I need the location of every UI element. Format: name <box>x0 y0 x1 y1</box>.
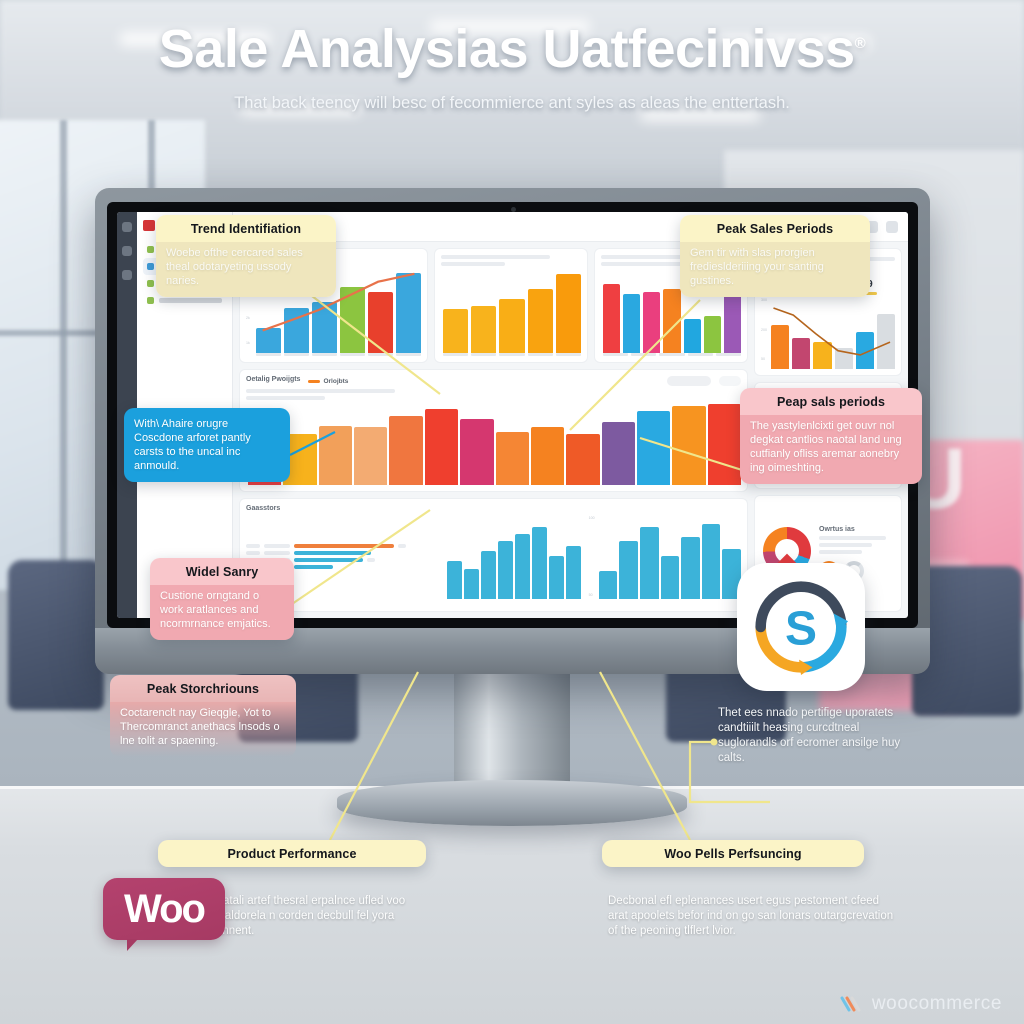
bar <box>684 319 701 352</box>
callout-customer-insights[interactable]: With\ Ahaire orugre Coscdone arforet pan… <box>124 408 290 482</box>
nav-icon <box>147 246 154 253</box>
x-tick <box>340 353 365 356</box>
monitor-stand-neck <box>454 668 570 784</box>
x-tick <box>284 353 309 356</box>
bar <box>661 556 680 599</box>
bar <box>549 556 564 599</box>
callout-body: Woebe ofthe cercared sales theal odotary… <box>156 242 336 297</box>
callout-woo-pells-body: Decbonal efl eplenances usert egus pesto… <box>608 894 898 939</box>
page-subtitle: That back teency will besc of fecommierc… <box>0 94 1024 113</box>
x-axis <box>601 353 741 356</box>
card-title-placeholder <box>441 255 550 259</box>
x-tick <box>256 353 281 356</box>
bar <box>499 299 524 352</box>
card-selling-products[interactable]: Oetalig Pwoijgts Orlojbts <box>239 369 748 492</box>
card-customers[interactable]: Gaasstors <box>239 498 748 612</box>
bar <box>619 541 638 599</box>
bar <box>471 306 496 353</box>
bar <box>481 551 496 599</box>
bar <box>603 284 620 353</box>
bar <box>702 524 721 599</box>
woo-wordmark: Woo <box>124 887 204 932</box>
woocommerce-mark-icon <box>840 996 864 1013</box>
hbar <box>294 558 363 562</box>
callout-woo-pells-perfsuncing[interactable]: Woo Pells Perfsuncing <box>602 840 864 867</box>
bar <box>447 561 462 599</box>
callout-title: Peak Sales Periods <box>680 215 870 242</box>
card-title: Owrtus ias <box>819 526 895 533</box>
footer-wordmark: woocommerce <box>872 993 1002 1015</box>
bar <box>460 419 493 485</box>
x-tick <box>631 353 656 356</box>
x-axis <box>441 353 581 356</box>
bar <box>389 416 422 485</box>
sidebar-item-label <box>159 298 222 303</box>
main-column: Cobrrngt / Taqbs 4k 3k 2k 1k <box>239 248 748 612</box>
callout-title: Trend Identifiation <box>156 215 336 242</box>
bar <box>637 411 670 485</box>
nav-icon <box>147 297 154 304</box>
hbar <box>294 551 371 555</box>
y-axis: 300 200 50 <box>761 298 770 361</box>
registered-trademark-icon: ® <box>855 35 866 52</box>
window-mullion <box>60 120 67 590</box>
card-sub-placeholder <box>246 396 325 400</box>
hbar <box>294 544 394 548</box>
note-monitor-right: Thet ees nnado pertifige uporatets candt… <box>718 706 918 766</box>
cell <box>264 544 290 548</box>
x-tick <box>603 353 628 356</box>
legend-swatch <box>308 380 320 383</box>
bar <box>319 426 352 485</box>
bar <box>354 427 387 484</box>
bar <box>623 294 640 352</box>
bar <box>602 422 635 484</box>
rail-icon-settings[interactable] <box>122 270 132 280</box>
bar <box>498 541 513 599</box>
y-tick: 50 <box>589 593 598 597</box>
selling-products-chart <box>246 403 741 485</box>
y-tick: 1k <box>246 341 255 345</box>
x-tick <box>368 353 393 356</box>
y-tick: 300 <box>761 298 770 302</box>
callout-peap-sals-periods[interactable]: Peap sals periods The yastylenlcixti get… <box>740 388 922 484</box>
callout-title: Woo Pells Perfsuncing <box>602 840 864 867</box>
bar <box>599 571 618 599</box>
x-tick <box>499 353 524 356</box>
legend-label: Orlojbts <box>323 378 348 385</box>
callout-product-performance[interactable]: Product Performance <box>158 840 426 867</box>
x-tick <box>443 353 468 356</box>
y-tick: 50 <box>761 357 770 361</box>
callout-title: Peak Storchriouns <box>110 675 296 702</box>
export-button[interactable] <box>719 376 741 386</box>
customers-sparkbars-2: 100 50 <box>589 516 741 605</box>
brand-logo-icon <box>143 220 155 231</box>
callout-trend-identification[interactable]: Trend Identifiation Woebe ofthe cercared… <box>156 215 336 297</box>
rail-icon-reports[interactable] <box>122 246 132 256</box>
cell <box>246 551 260 555</box>
bar <box>643 292 660 352</box>
callout-peak-sales-periods[interactable]: Peak Sales Periods Gem tir with slas pro… <box>680 215 870 297</box>
page-heading: Sale Analysias Uatfecinivss® <box>159 18 865 80</box>
callout-title: Widel Sanry <box>150 558 294 585</box>
rail-icon-home[interactable] <box>122 222 132 232</box>
y-tick: 2k <box>246 316 255 320</box>
office-chair <box>8 560 104 710</box>
cell <box>398 544 406 548</box>
bar <box>425 409 458 485</box>
bar <box>496 432 529 485</box>
bar <box>464 569 479 599</box>
line <box>819 550 862 554</box>
line <box>819 543 872 547</box>
y-tick: 200 <box>761 328 770 332</box>
filter-dropdown[interactable] <box>667 376 711 386</box>
bar <box>443 309 468 352</box>
bar <box>663 289 680 352</box>
line <box>819 536 886 540</box>
card-orders[interactable] <box>434 248 588 363</box>
bar <box>704 316 721 353</box>
cell <box>367 558 375 562</box>
callout-body: The yastylenlcixti get ouvr nol degkat c… <box>740 415 922 484</box>
bar <box>681 537 700 599</box>
x-tick <box>396 353 421 356</box>
callout-title: Product Performance <box>158 840 426 867</box>
bar <box>708 404 741 484</box>
card-sub-placeholder <box>246 389 395 393</box>
x-tick <box>688 353 713 356</box>
card-sub-placeholder <box>601 262 682 266</box>
callout-title: Peap sals periods <box>740 388 922 415</box>
orders-chart <box>441 269 581 353</box>
cell <box>264 551 290 555</box>
card-title: Gaasstors <box>246 505 741 512</box>
bar <box>640 527 659 599</box>
bar <box>566 434 599 485</box>
bar <box>556 274 581 353</box>
y-tick: 100 <box>589 516 598 520</box>
woo-logo-badge: Woo <box>103 878 225 940</box>
card-title: Oetalig Pwoijgts <box>246 376 300 383</box>
trend-line <box>771 298 895 369</box>
trend-chart: 300 200 50 <box>761 298 895 369</box>
x-tick <box>312 353 337 356</box>
hbar <box>294 565 333 569</box>
bar <box>566 546 581 599</box>
bar <box>672 406 705 485</box>
x-tick <box>528 353 553 356</box>
bar <box>515 534 530 599</box>
x-axis <box>246 353 421 356</box>
callout-body: Coctarenclt nay Gieqgle, Yot to Thercomr… <box>110 702 296 757</box>
x-tick <box>716 353 741 356</box>
cell <box>246 544 260 548</box>
callout-peak-storchriouns[interactable]: Peak Storchriouns Coctarenclt nay Gieqgl… <box>110 675 296 757</box>
y-axis: 100 50 <box>589 516 598 597</box>
nav-icon <box>147 263 154 270</box>
bar <box>531 427 564 484</box>
callout-widel-sanry[interactable]: Widel Sanry Custione orngtand o work ara… <box>150 558 294 640</box>
callout-body: With\ Ahaire orugre Coscdone arforet pan… <box>124 408 290 482</box>
x-tick <box>556 353 581 356</box>
callout-body: Gem tir with slas prorgien fredieslderii… <box>680 242 870 297</box>
heading-text: Sale Analysias Uatfecinivss <box>159 19 855 79</box>
bar <box>528 289 553 352</box>
monitor-stand-base <box>337 780 687 826</box>
footer-logo: woocommerce <box>840 993 1002 1015</box>
save-icon[interactable] <box>886 221 898 233</box>
sync-logo-badge: S <box>737 563 865 691</box>
card-sub-placeholder <box>441 262 505 266</box>
header: Sale Analysias Uatfecinivss® That back t… <box>0 18 1024 113</box>
sync-letter: S <box>785 602 817 655</box>
customers-sparkbars <box>447 516 581 605</box>
x-tick <box>471 353 496 356</box>
nav-icon <box>147 280 154 287</box>
callout-body: Custione orngtand o work aratlances and … <box>150 585 294 640</box>
x-tick <box>659 353 684 356</box>
sync-arrows-icon: S <box>753 579 849 675</box>
bar <box>532 527 547 599</box>
